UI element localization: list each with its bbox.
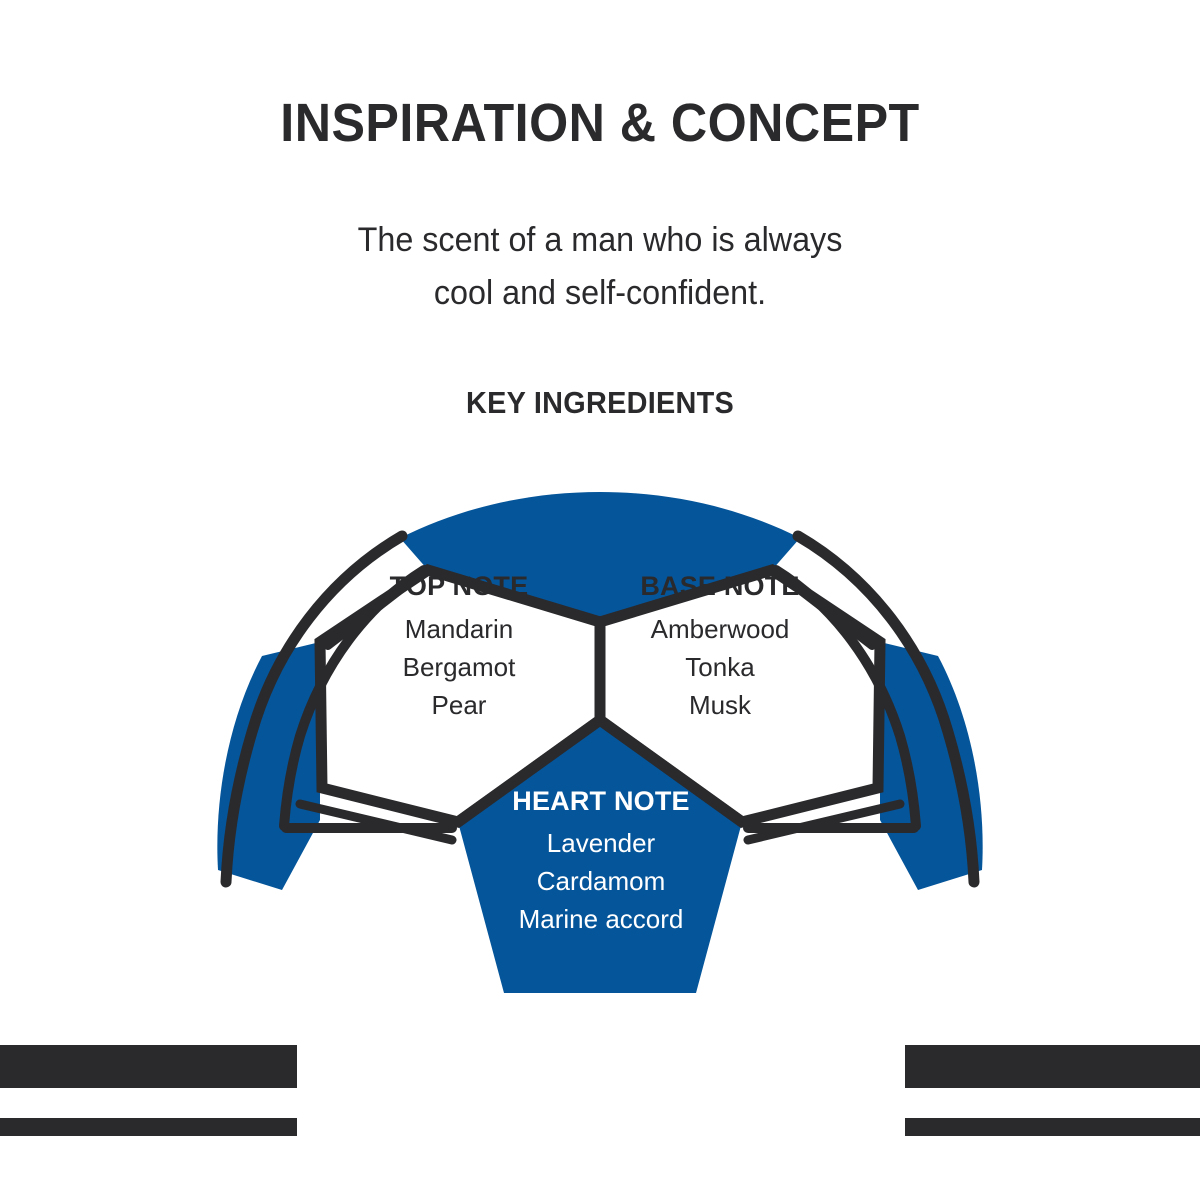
panel-base-note-item-1: Amberwood [651,614,790,644]
panel-top-note: TOP NOTE Mandarin Bergamot Pear [390,571,529,720]
poster-page: INSPIRATION & CONCEPT The scent of a man… [0,0,1200,1200]
panel-top-note-item-2: Bergamot [403,652,516,682]
panel-heart-note-item-3: Marine accord [519,904,684,934]
panel-heart-note-heading: HEART NOTE [512,786,690,816]
header-block: INSPIRATION & CONCEPT The scent of a man… [0,0,1200,421]
footer-bar-left-thick [0,1045,297,1088]
panel-top-note-item-1: Mandarin [405,614,513,644]
panel-top-note-heading: TOP NOTE [390,571,529,601]
panel-heart-note-item-1: Lavender [547,828,656,858]
panel-heart-note-item-2: Cardamom [537,866,666,896]
panel-base-note-heading: BASE NOTE [640,571,799,601]
footer-bar-right-thick [905,1045,1200,1088]
subtitle-line-2: cool and self-confident. [30,267,1170,320]
footer-bar-right-thin [905,1118,1200,1136]
section-title-key-ingredients: KEY INGREDIENTS [42,319,1158,421]
subtitle-line-1: The scent of a man who is always [30,214,1170,267]
panel-base-note-item-2: Tonka [685,652,755,682]
soccer-ball-diagram: TOP NOTE Mandarin Bergamot Pear BASE NOT… [0,470,1200,1010]
subtitle: The scent of a man who is always cool an… [30,150,1170,319]
panel-top-note-item-3: Pear [432,690,487,720]
ball-patch-top-blue [400,492,800,622]
panel-base-note: BASE NOTE Amberwood Tonka Musk [640,571,799,720]
footer-bar-left-thin [0,1118,297,1136]
panel-base-note-item-3: Musk [689,690,752,720]
page-title: INSPIRATION & CONCEPT [42,0,1158,150]
